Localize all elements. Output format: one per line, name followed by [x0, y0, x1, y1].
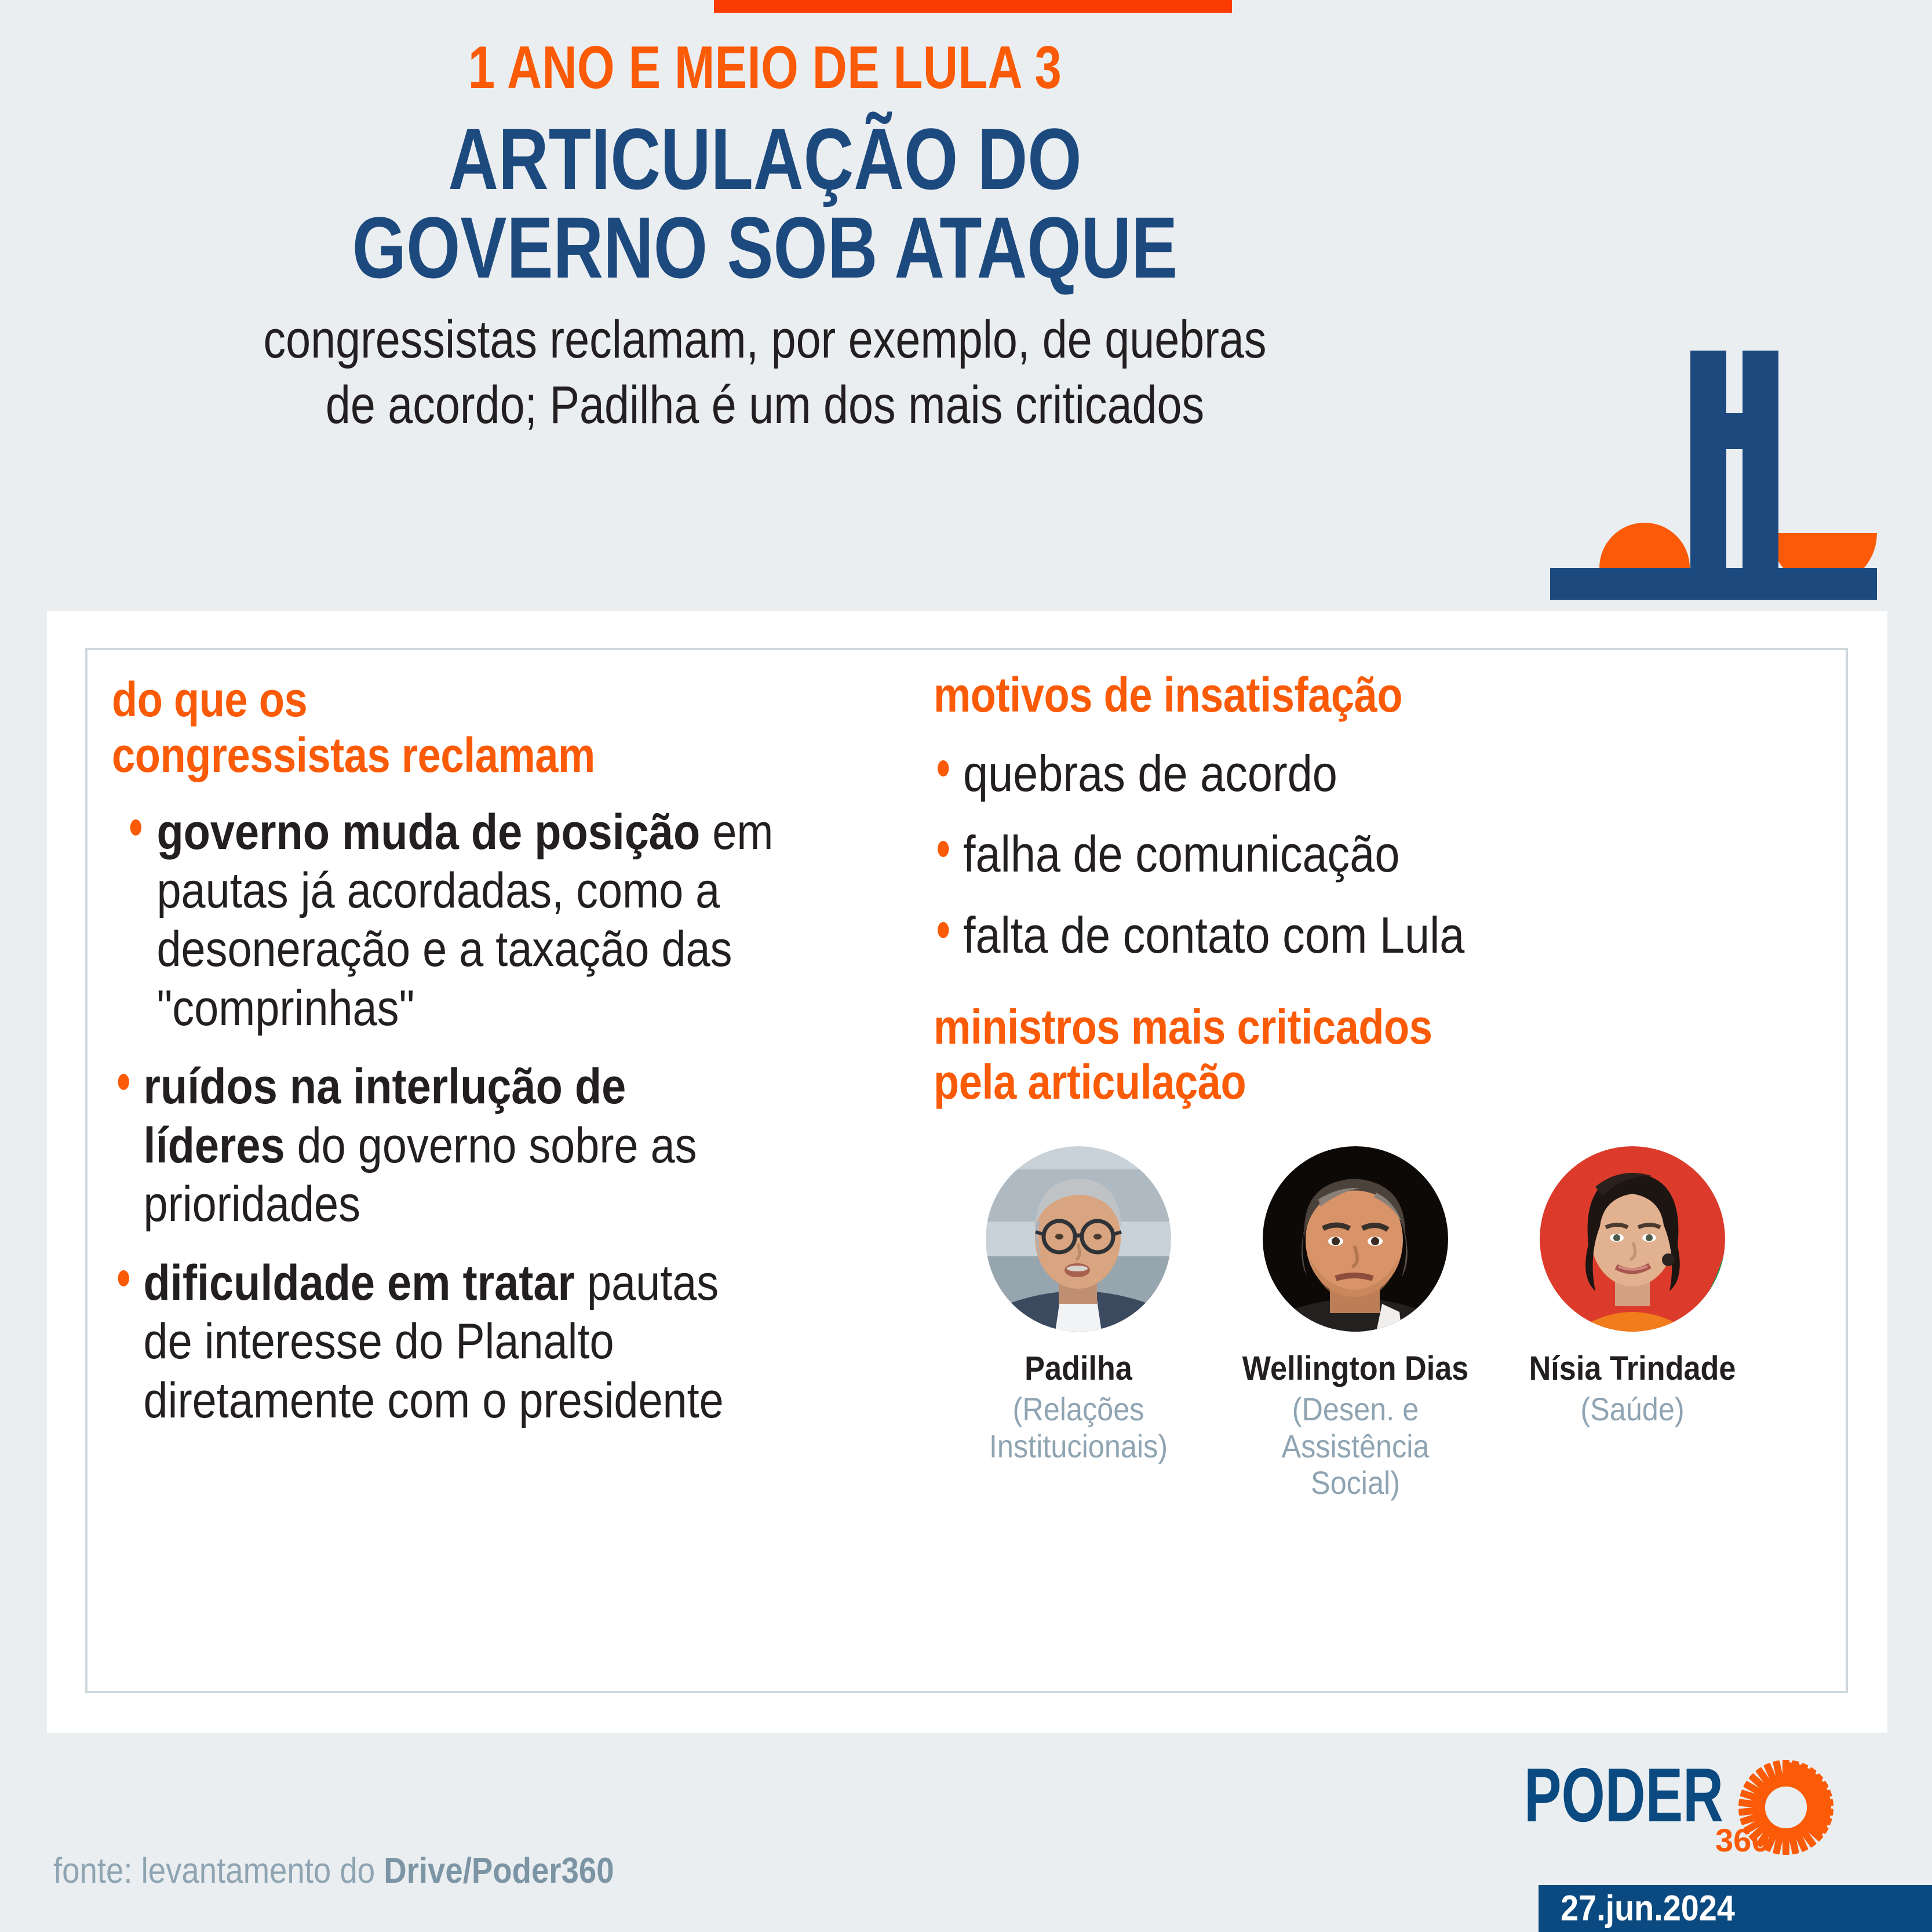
minister-name: Nísia Trindade — [1518, 1350, 1747, 1387]
bullet-dot-icon — [130, 819, 141, 836]
minister-role: (Relações Institucionais) — [964, 1391, 1193, 1465]
minister-role: (Desen. e Assistência Social) — [1241, 1391, 1470, 1501]
svg-text:PODER: PODER — [1524, 1759, 1723, 1838]
content-card-border: do que os congressistas reclamam governo… — [85, 648, 1848, 1693]
page-subtitle: congressistas reclamam, por exemplo, de … — [122, 307, 1408, 437]
bullet-dot-icon — [938, 922, 949, 938]
page-title: ARTICULAÇÃO DO GOVERNO SOB ATAQUE — [153, 115, 1377, 292]
right-column: motivos de insatisfação quebras de acord… — [934, 668, 1814, 1501]
minister-card-nisia-trindade[interactable]: Nísia Trindade (Saúde) — [1505, 1146, 1760, 1501]
list-item-lead: dificuldade em tratar — [144, 1255, 575, 1311]
minister-role: (Saúde) — [1518, 1391, 1747, 1428]
list-item-label: falta de contato com Lula — [963, 906, 1464, 964]
list-item: dificuldade em tratar pautas de interess… — [112, 1254, 775, 1430]
ministers-gallery: Padilha (Relações Institucionais) — [951, 1146, 1814, 1501]
bullet-dot-icon — [118, 1074, 129, 1090]
avatar — [1540, 1146, 1725, 1332]
top-accent-rule — [714, 0, 1232, 13]
bullet-dot-icon — [938, 841, 949, 857]
list-item-label: falha de comunicação — [963, 825, 1399, 883]
avatar — [986, 1146, 1171, 1332]
spacer — [934, 966, 1814, 1000]
bullet-dot-icon — [938, 760, 949, 777]
avatar — [1263, 1146, 1448, 1332]
bullet-dot-icon — [118, 1270, 129, 1286]
minister-card-padilha[interactable]: Padilha (Relações Institucionais) — [951, 1146, 1206, 1501]
ministers-section-title: ministros mais criticados pela articulaç… — [934, 1000, 1691, 1111]
source-prefix: fonte: levantamento do — [53, 1851, 384, 1891]
date-badge: 27.jun.2024 — [1539, 1885, 1932, 1932]
list-item: governo muda de posição em pautas já aco… — [112, 803, 775, 1038]
complaints-list: governo muda de posição em pautas já aco… — [112, 803, 865, 1431]
kicker-label: 1 ANO E MEIO DE LULA 3 — [153, 35, 1377, 101]
list-item: falha de comunicação — [934, 823, 1709, 885]
reasons-list: quebras de acordo falha de comunicação f… — [934, 743, 1814, 966]
page-title-line-2: GOVERNO SOB ATAQUE — [153, 203, 1377, 292]
list-item: ruídos na interlução de líderes do gover… — [112, 1058, 775, 1234]
page-subtitle-line-1: congressistas reclamam, por exemplo, de … — [122, 307, 1408, 372]
header: 1 ANO E MEIO DE LULA 3 ARTICULAÇÃO DO GO… — [0, 35, 1530, 438]
left-column: do que os congressistas reclamam governo… — [112, 672, 865, 1430]
source-strong: Drive/Poder360 — [384, 1851, 614, 1891]
minister-name: Padilha — [964, 1350, 1193, 1387]
left-section-title: do que os congressistas reclamam — [112, 672, 760, 783]
minister-name: Wellington Dias — [1241, 1350, 1470, 1387]
date-label: 27.jun.2024 — [1561, 1888, 1735, 1929]
source-note: fonte: levantamento do Drive/Poder360 — [53, 1850, 614, 1891]
content-card: do que os congressistas reclamam governo… — [47, 611, 1887, 1733]
poder360-logo[interactable]: PODER 360 — [1524, 1759, 1872, 1863]
list-item-label: quebras de acordo — [963, 745, 1337, 802]
list-item-lead: governo muda de posição — [156, 804, 700, 860]
reasons-section-title: motivos de insatisfação — [934, 668, 1691, 723]
list-item: quebras de acordo — [934, 743, 1709, 804]
list-item: falta de contato com Lula — [934, 905, 1709, 966]
congress-building-icon — [1539, 345, 1898, 600]
page-title-line-1: ARTICULAÇÃO DO — [153, 115, 1377, 203]
page-subtitle-line-2: de acordo; Padilha é um dos mais critica… — [122, 373, 1408, 438]
minister-card-wellington-dias[interactable]: Wellington Dias (Desen. e Assistência So… — [1228, 1146, 1483, 1501]
sunburst-icon — [1738, 1760, 1833, 1855]
